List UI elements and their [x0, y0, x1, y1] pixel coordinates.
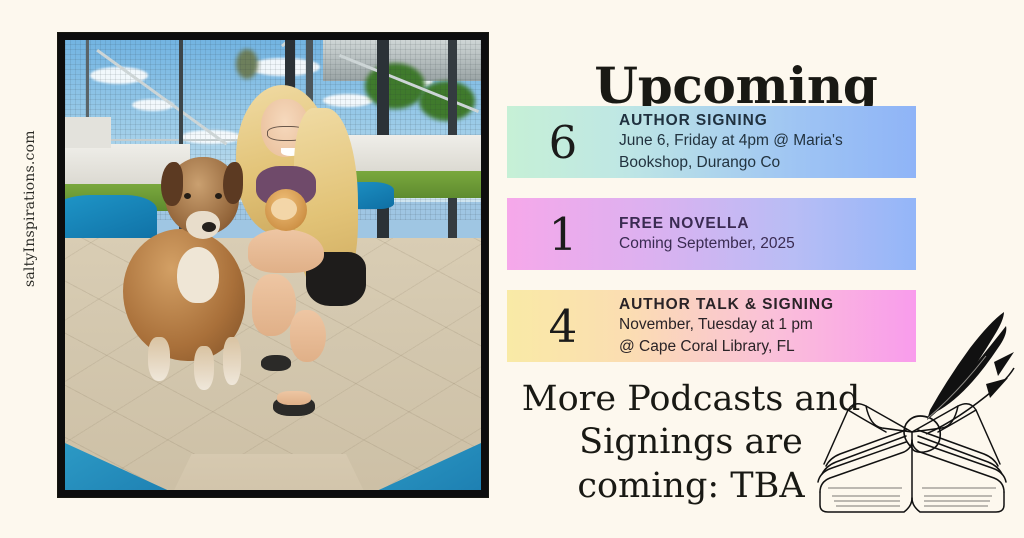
photo-dog-leg — [148, 337, 170, 381]
event-line-1: Coming September, 2025 — [619, 234, 906, 255]
photo-dog-eye — [184, 193, 191, 199]
photo-woman-foot — [277, 391, 311, 405]
event-day-number: 1 — [507, 212, 619, 257]
event-details: FREE NOVELLA Coming September, 2025 — [619, 214, 916, 255]
event-details: AUTHOR SIGNING June 6, Friday at 4pm @ M… — [619, 111, 916, 174]
event-card-2[interactable]: 1 FREE NOVELLA Coming September, 2025 — [507, 198, 916, 270]
event-line-1: June 6, Friday at 4pm @ Maria's — [619, 131, 906, 152]
photo-dog-ear — [161, 162, 183, 206]
photo-house — [65, 117, 111, 149]
poster-canvas: saltyInspirations.com — [0, 0, 1024, 538]
photo-woman-leg — [248, 229, 324, 273]
photo-cat-face — [271, 198, 297, 220]
photo-woman-leg — [290, 310, 326, 362]
photo-dog-ear — [223, 162, 243, 204]
photo-dog-eye — [215, 193, 222, 199]
open-book-with-quill-icon — [808, 300, 1024, 538]
photo-woman-sandal — [261, 355, 291, 371]
photo-dog-leg — [223, 337, 241, 385]
event-title: AUTHOR SIGNING — [619, 111, 906, 130]
photo-frame — [58, 33, 488, 497]
author-photo — [65, 40, 481, 490]
event-day-number: 4 — [507, 304, 619, 349]
event-line-2: Bookshop, Durango Co — [619, 153, 906, 174]
watermark-site-url: saltyInspirations.com — [22, 67, 42, 287]
event-card-1[interactable]: 6 AUTHOR SIGNING June 6, Friday at 4pm @… — [507, 106, 916, 178]
photo-dog-leg — [194, 346, 214, 390]
event-day-number: 6 — [507, 120, 619, 165]
event-title: FREE NOVELLA — [619, 214, 906, 233]
photo-dog-chest — [177, 247, 219, 303]
